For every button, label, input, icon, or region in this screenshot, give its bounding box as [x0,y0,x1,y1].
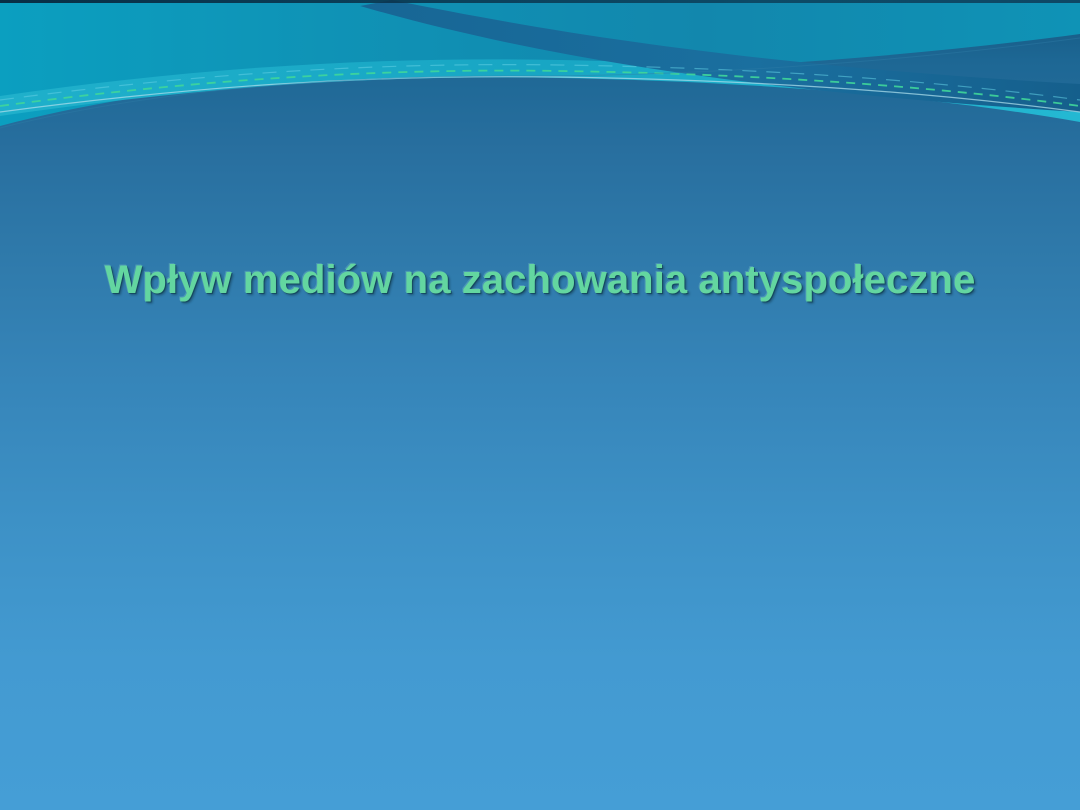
slide-title: Wpływ mediów na zachowania antyspołeczne [105,258,976,303]
band-teal-upper-left [0,0,1080,126]
title-placeholder[interactable]: Wpływ mediów na zachowania antyspołeczne [0,258,1080,303]
hairline-green-dashed [0,71,1080,106]
band-dark-blue-upper [360,0,1080,112]
shoulder-shadow-line [0,38,1080,128]
slide-top-edge [0,0,1080,3]
hairline-cyan-dashed [0,65,1080,100]
subtitle-placeholder[interactable] [150,350,930,440]
wave-ribbon-svg [0,0,1080,170]
hairline-pale [0,77,1080,112]
wave-ribbon-decoration [0,0,1080,170]
band-cyan-ribbon [0,59,1080,122]
presentation-slide: Wpływ mediów na zachowania antyspołeczne [0,0,1080,810]
